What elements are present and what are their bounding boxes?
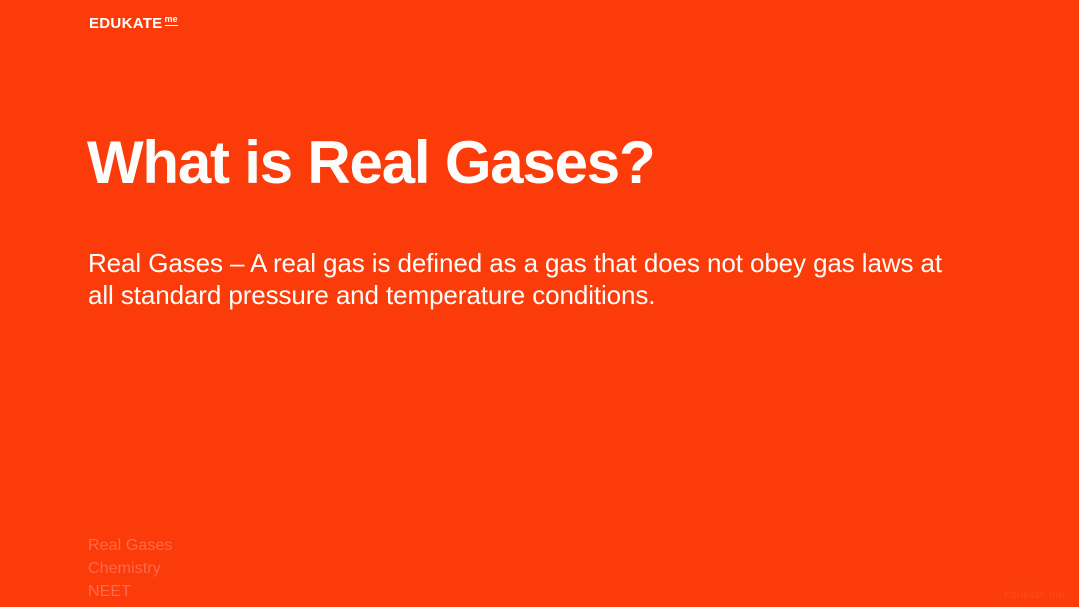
corner-watermark: edukate.me (1004, 589, 1065, 601)
brand-wordmark: EDUKATE (89, 16, 163, 31)
footer-tag-subject: Chemistry (88, 557, 173, 580)
brand-logo[interactable]: EDUKATE me (89, 16, 178, 31)
footer-tag-list: Real Gases Chemistry NEET (88, 534, 173, 603)
slide-title: What is Real Gases? (87, 131, 987, 194)
footer-tag-exam: NEET (88, 580, 173, 603)
footer-tag-topic: Real Gases (88, 534, 173, 557)
brand-superscript: me (165, 15, 178, 26)
slide-canvas: EDUKATE me What is Real Gases? Real Gase… (0, 0, 1079, 607)
slide-body-text: Real Gases – A real gas is defined as a … (88, 248, 943, 312)
